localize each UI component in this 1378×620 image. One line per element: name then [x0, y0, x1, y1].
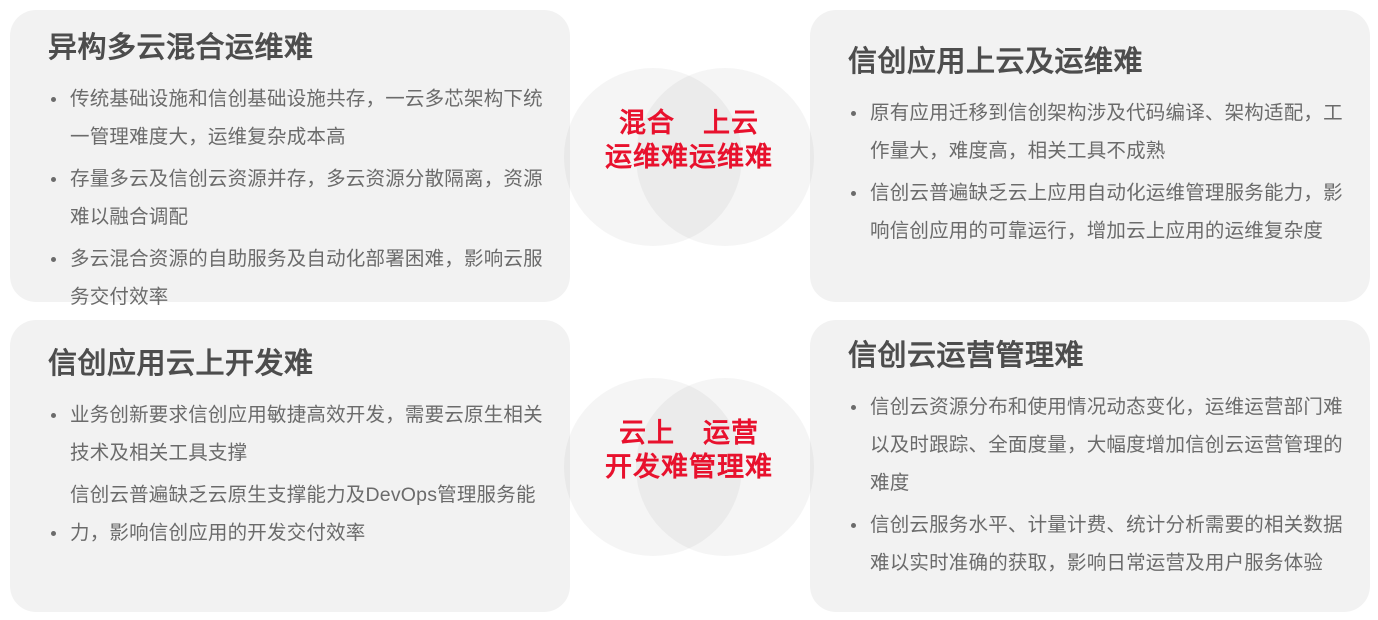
list-item: 业务创新要求信创应用敏捷高效开发，需要云原生相关技术及相关工具支撑: [48, 396, 544, 472]
bullet-dot-icon: [51, 97, 56, 102]
bullet-dot-icon: [851, 523, 856, 528]
list-item-text: 信创云资源分布和使用情况动态变化，运维运营部门难以及时跟踪、全面度量，大幅度增加…: [870, 396, 1343, 494]
venn-label-cloud-migration-ops: 上云 运维难: [642, 106, 820, 174]
bullet-list: 业务创新要求信创应用敏捷高效开发，需要云原生相关技术及相关工具支撑 信创云普遍缺…: [48, 396, 544, 552]
bullet-dot-icon: [851, 111, 856, 116]
venn-label-line2: 管理难: [642, 450, 820, 484]
list-item-text: 信创云普遍缺乏云原生支撑能力及DevOps管理服务能力，影响信创应用的开发交付效…: [70, 484, 536, 544]
list-item-text: 传统基础设施和信创基础设施共存，一云多芯架构下统一管理难度大，运维复杂成本高: [70, 88, 543, 148]
bullet-dot-icon: [851, 191, 856, 196]
card-content: 信创云运营管理难 信创云资源分布和使用情况动态变化，运维运营部门难以及时跟踪、全…: [848, 338, 1344, 586]
list-item: 传统基础设施和信创基础设施共存，一云多芯架构下统一管理难度大，运维复杂成本高: [48, 80, 544, 156]
list-item: 原有应用迁移到信创架构涉及代码编译、架构适配，工作量大，难度高，相关工具不成熟: [848, 94, 1344, 170]
venn-label-line1: 上云: [642, 106, 820, 140]
list-item: 信创云资源分布和使用情况动态变化，运维运营部门难以及时跟踪、全面度量，大幅度增加…: [848, 388, 1344, 502]
bullet-list: 信创云资源分布和使用情况动态变化，运维运营部门难以及时跟踪、全面度量，大幅度增加…: [848, 388, 1344, 582]
bullet-list: 原有应用迁移到信创架构涉及代码编译、架构适配，工作量大，难度高，相关工具不成熟 …: [848, 94, 1344, 250]
venn-diagram-bottom: 云上 开发难 运营 管理难: [564, 378, 814, 556]
card-content: 异构多云混合运维难 传统基础设施和信创基础设施共存，一云多芯架构下统一管理难度大…: [48, 30, 544, 320]
card-content: 信创应用上云及运维难 原有应用迁移到信创架构涉及代码编译、架构适配，工作量大，难…: [848, 44, 1344, 254]
page-title: 信创应用云上开发难: [48, 346, 544, 382]
card-cloud-operations-management: 信创云运营管理难 信创云资源分布和使用情况动态变化，运维运营部门难以及时跟踪、全…: [810, 320, 1370, 612]
venn-label-operations-management: 运营 管理难: [642, 416, 820, 484]
card-cloud-native-development: 信创应用云上开发难 业务创新要求信创应用敏捷高效开发，需要云原生相关技术及相关工…: [10, 320, 570, 612]
bullet-dot-icon: [51, 531, 56, 536]
list-item: 信创云服务水平、计量计费、统计分析需要的相关数据难以实时准确的获取，影响日常运营…: [848, 506, 1344, 582]
list-item-text: 信创云服务水平、计量计费、统计分析需要的相关数据难以实时准确的获取，影响日常运营…: [870, 514, 1343, 574]
list-item-text: 原有应用迁移到信创架构涉及代码编译、架构适配，工作量大，难度高，相关工具不成熟: [870, 102, 1343, 162]
bullet-dot-icon: [51, 177, 56, 182]
list-item: 信创云普遍缺乏云上应用自动化运维管理服务能力，影响信创应用的可靠运行，增加云上应…: [848, 174, 1344, 250]
page-title: 异构多云混合运维难: [48, 30, 544, 66]
venn-diagram-top: 混合 运维难 上云 运维难: [564, 68, 814, 246]
list-item: 存量多云及信创云资源并存，多云资源分散隔离，资源难以融合调配: [48, 160, 544, 236]
card-app-migration-ops: 信创应用上云及运维难 原有应用迁移到信创架构涉及代码编译、架构适配，工作量大，难…: [810, 10, 1370, 302]
bullet-list: 传统基础设施和信创基础设施共存，一云多芯架构下统一管理难度大，运维复杂成本高 存…: [48, 80, 544, 316]
venn-label-line1: 运营: [642, 416, 820, 450]
list-item-text: 业务创新要求信创应用敏捷高效开发，需要云原生相关技术及相关工具支撑: [70, 404, 543, 464]
page-title: 信创应用上云及运维难: [848, 44, 1344, 80]
bullet-dot-icon: [51, 257, 56, 262]
list-item-text: 多云混合资源的自助服务及自动化部署困难，影响云服务交付效率: [70, 248, 543, 308]
list-item: 信创云普遍缺乏云原生支撑能力及DevOps管理服务能力，影响信创应用的开发交付效…: [48, 476, 544, 552]
venn-label-line2: 运维难: [642, 140, 820, 174]
card-heterogeneous-multicloud-ops: 异构多云混合运维难 传统基础设施和信创基础设施共存，一云多芯架构下统一管理难度大…: [10, 10, 570, 302]
page-title: 信创云运营管理难: [848, 338, 1344, 374]
list-item-text: 信创云普遍缺乏云上应用自动化运维管理服务能力，影响信创应用的可靠运行，增加云上应…: [870, 182, 1343, 242]
card-content: 信创应用云上开发难 业务创新要求信创应用敏捷高效开发，需要云原生相关技术及相关工…: [48, 346, 544, 556]
bullet-dot-icon: [851, 405, 856, 410]
bullet-dot-icon: [51, 413, 56, 418]
diagram-canvas: 异构多云混合运维难 传统基础设施和信创基础设施共存，一云多芯架构下统一管理难度大…: [0, 0, 1378, 620]
list-item-text: 存量多云及信创云资源并存，多云资源分散隔离，资源难以融合调配: [70, 168, 543, 228]
list-item: 多云混合资源的自助服务及自动化部署困难，影响云服务交付效率: [48, 240, 544, 316]
